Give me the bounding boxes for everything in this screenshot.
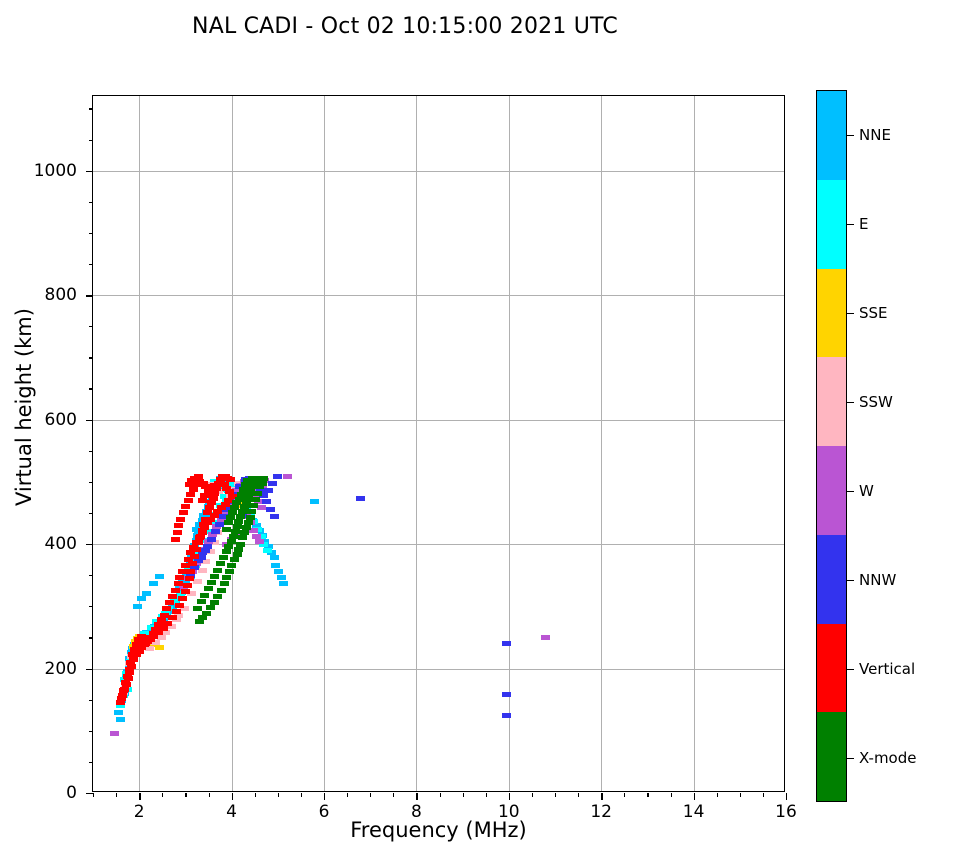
data-mark-vertical (171, 588, 180, 593)
x-tick-minor (486, 793, 487, 797)
colorbar-label-w: W (859, 482, 874, 500)
data-mark-x-mode (238, 535, 247, 540)
data-mark-x-mode (248, 476, 257, 481)
x-tick-minor (440, 793, 441, 797)
data-mark-x-mode (237, 492, 246, 497)
data-mark-x-mode (193, 606, 202, 611)
data-mark-nnw (264, 488, 273, 493)
data-mark-vertical (116, 700, 125, 705)
data-mark-nne (142, 591, 151, 596)
colorbar-label-ssw: SSW (859, 393, 893, 411)
colorbar-tick (847, 402, 854, 403)
y-tick-minor (89, 731, 93, 732)
x-tick (416, 793, 417, 800)
y-tick-minor (89, 264, 93, 265)
x-axis-label: Frequency (MHz) (92, 818, 785, 842)
y-tick-label: 0 (66, 783, 77, 803)
data-mark-nnw (502, 692, 511, 697)
data-mark-nnw (273, 474, 282, 479)
y-tick (86, 420, 93, 421)
data-mark-vertical (172, 609, 181, 614)
x-tick-minor (740, 793, 741, 797)
data-mark-nnw (201, 548, 210, 553)
data-mark-nnw (211, 529, 220, 534)
y-tick-minor (89, 513, 93, 514)
data-mark-x-mode (235, 497, 244, 502)
y-tick-minor (89, 700, 93, 701)
y-tick-minor (89, 108, 93, 109)
x-tick-minor (717, 793, 718, 797)
gridline-vertical (509, 96, 510, 791)
data-mark-e (263, 548, 272, 553)
y-tick-minor (89, 140, 93, 141)
data-mark-vertical (173, 530, 182, 535)
x-tick (786, 793, 787, 800)
data-mark-x-mode (251, 497, 260, 502)
data-mark-nne (137, 596, 146, 601)
x-tick (139, 793, 140, 800)
gridline-vertical (324, 96, 325, 791)
x-tick-minor (393, 793, 394, 797)
x-tick (232, 793, 233, 800)
data-mark-nne (270, 555, 279, 560)
data-mark-vertical (194, 474, 203, 479)
data-mark-nne (155, 574, 164, 579)
data-mark-nne (277, 575, 286, 580)
data-mark-x-mode (242, 525, 251, 530)
data-mark-nne (274, 569, 283, 574)
data-mark-w (110, 731, 119, 736)
colorbar-segment-vertical[interactable] (817, 624, 846, 713)
x-tick-minor (278, 793, 279, 797)
x-tick-minor (116, 793, 117, 797)
data-mark-vertical (181, 504, 190, 509)
data-mark-x-mode (225, 569, 234, 574)
data-mark-x-mode (249, 503, 258, 508)
colorbar-segment-ssw[interactable] (817, 357, 846, 446)
data-mark-nnw (356, 496, 365, 501)
y-tick-minor (89, 357, 93, 358)
data-mark-nne (133, 604, 142, 609)
data-mark-x-mode (195, 619, 204, 624)
colorbar-label-e: E (859, 215, 868, 233)
data-mark-nnw (502, 713, 511, 718)
data-mark-vertical (179, 510, 188, 515)
x-tick-minor (463, 793, 464, 797)
gridline-horizontal (93, 171, 784, 172)
data-mark-vertical (178, 596, 187, 601)
data-mark-nne (279, 581, 288, 586)
data-mark-x-mode (222, 549, 231, 554)
data-mark-x-mode (217, 588, 226, 593)
chart-title: NAL CADI - Oct 02 10:15:00 2021 UTC (0, 14, 810, 39)
y-tick (86, 171, 93, 172)
y-tick (86, 669, 93, 670)
y-tick-minor (89, 637, 93, 638)
y-tick-minor (89, 202, 93, 203)
y-tick (86, 793, 93, 794)
x-tick-minor (162, 793, 163, 797)
data-mark-x-mode (239, 487, 248, 492)
data-mark-vertical (185, 576, 194, 581)
data-mark-vertical (181, 563, 190, 568)
data-mark-vertical (175, 603, 184, 608)
data-mark-w (541, 635, 550, 640)
y-tick-minor (89, 762, 93, 763)
x-tick-minor (763, 793, 764, 797)
x-tick-minor (347, 793, 348, 797)
data-mark-x-mode (224, 520, 233, 525)
gridline-horizontal (93, 295, 784, 296)
data-mark-x-mode (210, 574, 219, 579)
data-mark-w (283, 474, 292, 479)
x-tick (509, 793, 510, 800)
data-mark-x-mode (220, 581, 229, 586)
data-mark-x-mode (200, 593, 209, 598)
data-mark-vertical (186, 550, 195, 555)
data-mark-vertical (198, 498, 207, 503)
colorbar-segment-sse[interactable] (817, 269, 846, 358)
data-mark-x-mode (204, 586, 213, 591)
x-tick-minor (370, 793, 371, 797)
x-tick-minor (185, 793, 186, 797)
data-mark-nne (271, 563, 280, 568)
colorbar-tick (847, 491, 854, 492)
colorbar-label-sse: SSE (859, 304, 888, 322)
data-mark-x-mode (247, 509, 256, 514)
x-tick-minor (555, 793, 556, 797)
y-tick-minor (89, 606, 93, 607)
data-mark-vertical (129, 657, 138, 662)
data-mark-vertical (127, 664, 136, 669)
y-tick-minor (89, 575, 93, 576)
colorbar[interactable] (816, 90, 847, 802)
y-tick-minor (89, 451, 93, 452)
data-mark-sse (155, 645, 164, 650)
data-mark-vertical (205, 493, 214, 498)
data-mark-x-mode (216, 561, 225, 566)
data-mark-x-mode (197, 599, 206, 604)
y-tick-label: 1000 (34, 161, 77, 181)
x-tick-minor (93, 793, 94, 797)
data-mark-x-mode (229, 534, 238, 539)
data-mark-w (255, 539, 264, 544)
data-mark-x-mode (258, 481, 267, 486)
data-mark-vertical (183, 583, 192, 588)
gridline-vertical (232, 96, 233, 791)
data-mark-vertical (207, 500, 216, 505)
data-mark-x-mode (233, 524, 242, 529)
y-tick-label: 800 (45, 285, 77, 305)
data-mark-vertical (125, 670, 134, 675)
data-mark-vertical (176, 517, 185, 522)
colorbar-segment-w[interactable] (817, 446, 846, 535)
colorbar-segment-e[interactable] (817, 180, 846, 269)
data-mark-vertical (186, 569, 195, 574)
data-mark-nnw (270, 514, 279, 519)
x-tick-minor (624, 793, 625, 797)
data-mark-x-mode (222, 527, 231, 532)
data-mark-vertical (124, 676, 133, 681)
gridline-horizontal (93, 420, 784, 421)
y-tick-minor (89, 482, 93, 483)
data-mark-vertical (174, 581, 183, 586)
data-mark-vertical (175, 575, 184, 580)
data-mark-x-mode (206, 605, 215, 610)
data-mark-x-mode (234, 519, 243, 524)
x-tick-minor (255, 793, 256, 797)
data-mark-nnw (268, 481, 277, 486)
gridline-vertical (139, 96, 140, 791)
plot-canvas (93, 96, 784, 791)
data-mark-x-mode (231, 529, 240, 534)
data-mark-x-mode (213, 568, 222, 573)
x-tick-minor (647, 793, 648, 797)
data-mark-vertical (120, 687, 129, 692)
x-tick (694, 793, 695, 800)
data-mark-x-mode (219, 555, 228, 560)
data-mark-x-mode (244, 520, 253, 525)
data-mark-x-mode (227, 563, 236, 568)
colorbar-tick (847, 580, 854, 581)
colorbar-tick (847, 313, 854, 314)
data-mark-x-mode (213, 594, 222, 599)
data-mark-vertical (178, 569, 187, 574)
data-mark-x-mode (240, 530, 249, 535)
data-mark-nnw (502, 641, 511, 646)
colorbar-tick (847, 758, 854, 759)
data-mark-x-mode (253, 491, 262, 496)
colorbar-label-x-mode: X-mode (859, 749, 916, 767)
data-mark-nne (149, 581, 158, 586)
colorbar-segment-x-mode[interactable] (817, 712, 846, 801)
data-mark-x-mode (246, 515, 255, 520)
data-mark-x-mode (236, 542, 245, 547)
data-mark-nne (116, 717, 125, 722)
data-mark-vertical (186, 492, 195, 497)
x-tick-minor (301, 793, 302, 797)
gridline-horizontal (93, 669, 784, 670)
data-mark-nne (310, 499, 319, 504)
x-tick (324, 793, 325, 800)
data-mark-x-mode (224, 544, 233, 549)
data-mark-vertical (184, 498, 193, 503)
data-mark-vertical (184, 557, 193, 562)
y-tick-label: 600 (45, 410, 77, 430)
data-mark-vertical (162, 606, 171, 611)
y-tick-minor (89, 233, 93, 234)
data-mark-vertical (181, 589, 190, 594)
colorbar-segment-nne[interactable] (817, 91, 846, 180)
data-mark-vertical (210, 483, 219, 488)
y-tick (86, 295, 93, 296)
data-mark-vertical (171, 537, 180, 542)
x-tick-minor (671, 793, 672, 797)
x-tick-minor (532, 793, 533, 797)
data-mark-vertical (168, 594, 177, 599)
colorbar-segment-nnw[interactable] (817, 535, 846, 624)
y-tick (86, 544, 93, 545)
x-tick (601, 793, 602, 800)
gridline-vertical (694, 96, 695, 791)
data-mark-vertical (174, 523, 183, 528)
plot-area: 24681012141602004006008001000 (92, 95, 785, 792)
colorbar-tick (847, 135, 854, 136)
colorbar-label-nnw: NNW (859, 571, 896, 589)
colorbar-tick (847, 669, 854, 670)
y-tick-minor (89, 388, 93, 389)
colorbar-label-vertical: Vertical (859, 660, 915, 678)
y-axis-label: Virtual height (km) (12, 197, 36, 617)
data-mark-ssw (193, 579, 202, 584)
data-mark-nnw (262, 499, 271, 504)
y-tick-label: 400 (45, 534, 77, 554)
data-mark-vertical (168, 615, 177, 620)
data-mark-x-mode (222, 575, 231, 580)
x-tick-minor (209, 793, 210, 797)
data-mark-x-mode (227, 539, 236, 544)
gridline-vertical (601, 96, 602, 791)
gridline-vertical (416, 96, 417, 791)
data-mark-nnw (266, 507, 275, 512)
data-mark-x-mode (236, 514, 245, 519)
data-mark-nne (114, 710, 123, 715)
data-mark-x-mode (207, 580, 216, 585)
data-mark-vertical (118, 693, 127, 698)
data-mark-x-mode (238, 509, 247, 514)
colorbar-label-nne: NNE (859, 126, 891, 144)
data-mark-x-mode (259, 476, 268, 481)
colorbar-tick (847, 224, 854, 225)
x-tick-minor (578, 793, 579, 797)
y-tick-label: 200 (45, 659, 77, 679)
data-mark-x-mode (230, 557, 239, 562)
data-mark-vertical (165, 600, 174, 605)
y-tick-minor (89, 326, 93, 327)
data-mark-nnw (207, 537, 216, 542)
